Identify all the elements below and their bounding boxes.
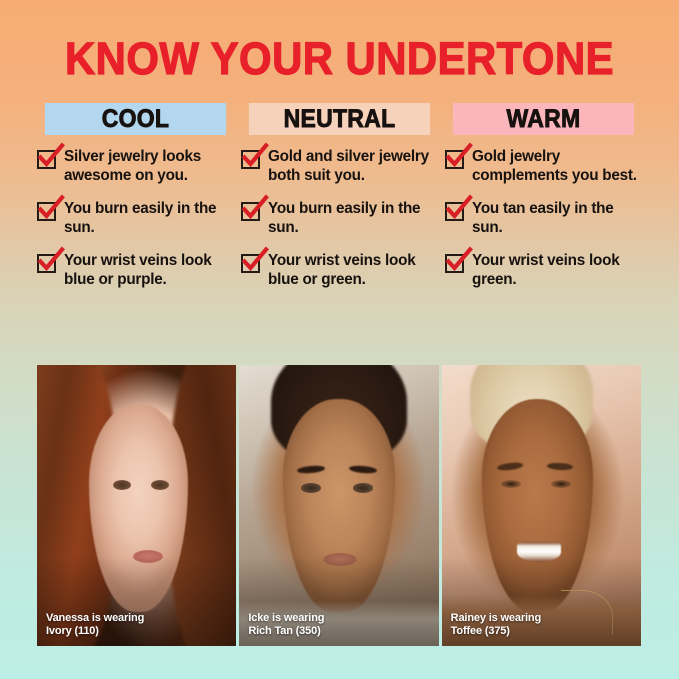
photo-caption: Icke is wearing Rich Tan (350) xyxy=(248,612,324,638)
checkbox-checked-icon[interactable] xyxy=(37,202,56,221)
eye-left xyxy=(113,480,131,490)
column-header-warm: WARM xyxy=(453,103,634,135)
checklist-neutral: Gold and silver jewelry both suit you. Y… xyxy=(241,135,438,289)
check-item[interactable]: You burn easily in the sun. xyxy=(241,200,438,237)
check-item-label: Your wrist veins look green. xyxy=(472,252,642,289)
checkbox-checked-icon[interactable] xyxy=(445,202,464,221)
photo-caption-line2: Ivory (110) xyxy=(46,625,144,638)
model-photo-vanessa: Vanessa is wearing Ivory (110) xyxy=(37,365,236,646)
page-title: KNOW YOUR UNDERTONE xyxy=(24,0,655,81)
check-item[interactable]: You burn easily in the sun. xyxy=(37,200,234,237)
check-item-label: You burn easily in the sun. xyxy=(64,200,234,237)
check-item[interactable]: Your wrist veins look blue or purple. xyxy=(37,252,234,289)
eye-right xyxy=(353,483,373,493)
checklist-cool: Silver jewelry looks awesome on you. You… xyxy=(37,135,234,289)
check-item-label: You tan easily in the sun. xyxy=(472,200,642,237)
photo-caption-line2: Rich Tan (350) xyxy=(248,625,324,638)
check-item-label: Silver jewelry looks awesome on you. xyxy=(64,148,234,185)
eye-left xyxy=(501,480,521,487)
check-item-label: Your wrist veins look blue or purple. xyxy=(64,252,234,289)
check-item[interactable]: Gold jewelry complements you best. xyxy=(445,148,642,185)
checkbox-checked-icon[interactable] xyxy=(241,254,260,273)
eye-right xyxy=(551,480,571,487)
checkbox-checked-icon[interactable] xyxy=(37,254,56,273)
check-item-label: Your wrist veins look blue or green. xyxy=(268,252,438,289)
check-item-label: Gold and silver jewelry both suit you. xyxy=(268,148,438,185)
photo-caption: Rainey is wearing Toffee (375) xyxy=(451,612,541,638)
column-warm: WARM Gold jewelry complements you best. … xyxy=(445,103,642,304)
checkbox-checked-icon[interactable] xyxy=(445,254,464,273)
eye-left xyxy=(301,483,321,493)
check-item[interactable]: Your wrist veins look green. xyxy=(445,252,642,289)
model-photo-row: Vanessa is wearing Ivory (110) Icke is w… xyxy=(37,365,641,646)
column-neutral: NEUTRAL Gold and silver jewelry both sui… xyxy=(241,103,438,304)
checkbox-checked-icon[interactable] xyxy=(241,202,260,221)
checkbox-checked-icon[interactable] xyxy=(241,150,260,169)
photo-caption: Vanessa is wearing Ivory (110) xyxy=(46,612,144,638)
undertone-columns: COOL Silver jewelry looks awesome on you… xyxy=(0,81,679,304)
checkbox-checked-icon[interactable] xyxy=(445,150,464,169)
photo-caption-line2: Toffee (375) xyxy=(451,625,541,638)
model-photo-rainey: Rainey is wearing Toffee (375) xyxy=(442,365,641,646)
photo-caption-line1: Vanessa is wearing xyxy=(46,612,144,625)
column-header-neutral: NEUTRAL xyxy=(249,103,430,135)
check-item-label: You burn easily in the sun. xyxy=(268,200,438,237)
column-cool: COOL Silver jewelry looks awesome on you… xyxy=(37,103,234,304)
eye-right xyxy=(151,480,169,490)
column-header-cool: COOL xyxy=(45,103,226,135)
model-photo-icke: Icke is wearing Rich Tan (350) xyxy=(239,365,438,646)
check-item[interactable]: Your wrist veins look blue or green. xyxy=(241,252,438,289)
photo-caption-line1: Icke is wearing xyxy=(248,612,324,625)
check-item[interactable]: You tan easily in the sun. xyxy=(445,200,642,237)
photo-caption-line1: Rainey is wearing xyxy=(451,612,541,625)
checklist-warm: Gold jewelry complements you best. You t… xyxy=(445,135,642,289)
check-item-label: Gold jewelry complements you best. xyxy=(472,148,642,185)
checkbox-checked-icon[interactable] xyxy=(37,150,56,169)
check-item[interactable]: Silver jewelry looks awesome on you. xyxy=(37,148,234,185)
check-item[interactable]: Gold and silver jewelry both suit you. xyxy=(241,148,438,185)
